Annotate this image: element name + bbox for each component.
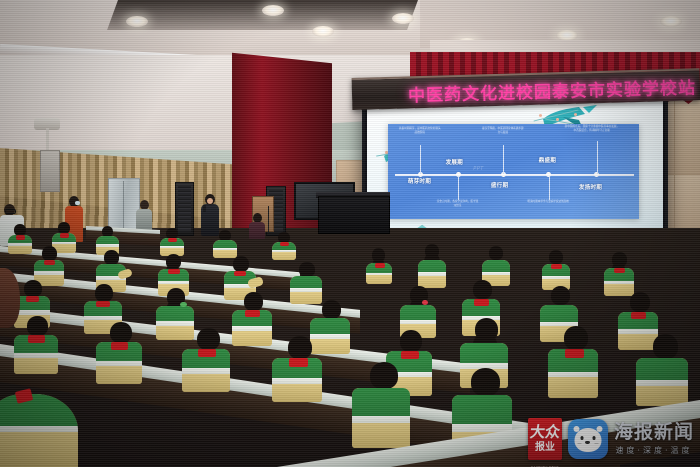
red-neckerchief	[401, 351, 419, 359]
student	[8, 224, 32, 254]
student	[290, 262, 322, 304]
student	[636, 334, 688, 406]
ceiling-downlight	[392, 13, 414, 24]
student-head	[473, 280, 492, 299]
slide-watermark: PPT	[473, 166, 484, 172]
student-head	[551, 286, 570, 305]
timeline-label: 发展期	[446, 158, 463, 166]
red-neckerchief	[111, 342, 128, 350]
haibao-tagline: 速度·深度·温度	[615, 445, 692, 456]
seal-mascot-icon	[568, 419, 608, 459]
screen-surface: PPT 先秦时期萌芽，是中医药文化的源头起始阶段 萌芽时期 宋金元时期，各家学说…	[367, 101, 663, 245]
timeline-note: 秦汉至隋唐，中医药理论体系逐步建立与发展	[481, 127, 525, 135]
timeline-label: 发扬时期	[579, 183, 602, 191]
plum-blossom-icon	[539, 114, 542, 117]
red-neckerchief	[44, 260, 55, 265]
red-neckerchief	[198, 349, 216, 357]
student	[272, 232, 296, 260]
seal-eye-left	[580, 436, 583, 440]
seal-nose	[585, 441, 590, 444]
timeline-note: 明清时期本草学与温病学说达到高峰	[526, 200, 570, 204]
student-head	[471, 368, 500, 396]
red-neckerchief	[234, 271, 246, 276]
red-neckerchief	[26, 296, 39, 302]
student	[213, 230, 237, 258]
student-head	[299, 262, 315, 277]
face-mask-icon	[75, 201, 80, 205]
timeline-stem	[458, 176, 459, 200]
adult-in-back-row	[249, 213, 265, 239]
student-head	[630, 292, 650, 312]
student	[604, 252, 634, 296]
red-neckerchief	[565, 349, 584, 358]
student	[232, 292, 272, 346]
student-head	[322, 300, 341, 319]
student-uniform	[0, 394, 78, 467]
ceiling-downlight	[312, 26, 334, 37]
watermark-logo-bar: 大众 报业 DAZHONG NEWS 海报新闻 速度·深度·温度	[524, 414, 698, 464]
seal-whisker	[594, 443, 598, 444]
adult-body	[249, 222, 265, 239]
student-head	[95, 284, 113, 302]
student	[96, 322, 142, 384]
timeline-stem	[597, 141, 598, 174]
red-neckerchief	[16, 235, 25, 240]
ceiling-downlight	[126, 16, 148, 27]
dazhong-sub-text: 报业	[535, 442, 555, 453]
timeline-note: 新中国成立后，国家十分重视中医药事业发展，中西医结合，传承精华守正创新	[564, 125, 620, 133]
student-head	[104, 250, 119, 265]
student-head	[564, 326, 588, 350]
student	[366, 248, 392, 284]
seal-whisker	[577, 443, 581, 444]
student-uniform	[636, 358, 688, 406]
student-head	[42, 246, 57, 261]
red-neckerchief	[474, 299, 489, 306]
timeline-stem	[503, 145, 504, 174]
student	[14, 316, 58, 374]
red-neckerchief	[375, 263, 385, 268]
red-neckerchief	[614, 268, 625, 273]
student-head	[288, 336, 312, 359]
timeline-note: 宋金元时期，各家学说争鸣，医学流派纷呈	[436, 200, 480, 208]
wall-speaker-box	[40, 150, 60, 192]
student-head	[233, 256, 249, 272]
red-neckerchief	[28, 335, 45, 343]
plum-blossom-icon	[574, 113, 577, 116]
haibao-news-logo: 海报新闻 速度·深度·温度	[614, 423, 694, 456]
ceiling-downlight	[262, 5, 284, 16]
student	[548, 326, 598, 398]
red-neckerchief	[280, 242, 289, 246]
red-neckerchief	[168, 269, 180, 274]
red-neckerchief	[631, 312, 646, 319]
student-head	[110, 322, 132, 343]
stage-wall-panel	[674, 98, 700, 176]
timeline-note: 先秦时期萌芽，是中医药文化的源头起始阶段	[398, 127, 442, 135]
timeline-label: 盛行期	[491, 181, 508, 189]
student-head	[197, 328, 220, 350]
student	[352, 362, 410, 448]
red-neckerchief	[96, 301, 110, 307]
led-presentation-screen[interactable]: PPT 先秦时期萌芽，是中医药文化的源头起始阶段 萌芽时期 宋金元时期，各家学说…	[362, 96, 668, 250]
red-neckerchief	[289, 358, 308, 367]
student-head	[244, 292, 263, 311]
student	[182, 328, 230, 392]
student	[160, 228, 184, 256]
student	[272, 336, 322, 402]
timeline-slide: PPT 先秦时期萌芽，是中医药文化的源头起始阶段 萌芽时期 宋金元时期，各家学说…	[388, 124, 640, 219]
handheld-microphone	[203, 205, 206, 212]
glasses-icon	[5, 209, 16, 214]
upright-piano	[318, 196, 390, 234]
student-head	[24, 280, 42, 297]
dazhong-logo: 大众 报业 DAZHONG NEWS	[528, 418, 562, 460]
photograph-scene: PPT 先秦时期萌芽，是中医药文化的源头起始阶段 萌芽时期 宋金元时期，各家学说…	[0, 0, 700, 467]
hair-clip	[180, 302, 187, 307]
ceiling-downlight	[660, 16, 682, 27]
student-head	[489, 246, 503, 260]
timeline-label: 鼎盛期	[539, 156, 556, 164]
ceiling-recess	[107, 0, 418, 30]
haibao-title: 海报新闻	[614, 423, 694, 442]
red-neckerchief	[168, 238, 177, 242]
student-head	[27, 316, 48, 336]
timeline-label: 萌芽时期	[408, 179, 434, 185]
presenter-face	[207, 198, 213, 204]
student-head	[400, 330, 422, 352]
event-banner-text: 中医药文化进校园泰安市实验学校站	[408, 73, 700, 106]
dazhong-main-text: 大众	[529, 425, 561, 440]
student-head	[653, 334, 678, 359]
student-uniform	[418, 260, 446, 288]
timeline-stem	[420, 145, 421, 174]
student	[542, 250, 570, 290]
student-foreground	[0, 384, 78, 467]
red-neckerchief	[245, 310, 260, 317]
red-neckerchief	[551, 264, 562, 269]
student-uniform	[352, 388, 410, 448]
microphone-cable	[268, 206, 269, 232]
seal-eye-right	[592, 436, 595, 440]
student-head	[549, 250, 563, 264]
red-neckerchief	[60, 233, 69, 238]
student-head	[370, 362, 398, 389]
student	[418, 244, 446, 288]
timeline-stem	[549, 176, 550, 200]
seal-face	[574, 428, 601, 452]
